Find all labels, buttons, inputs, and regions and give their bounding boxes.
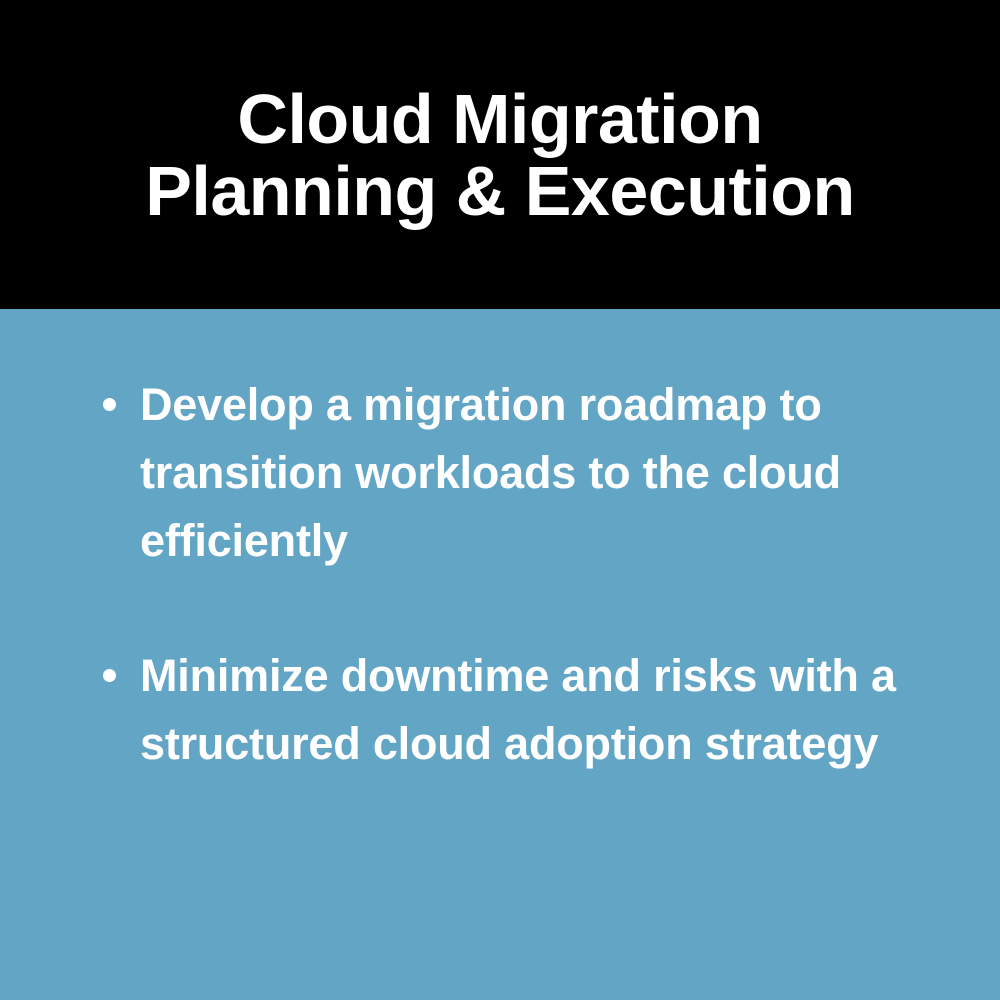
bullet-dot-icon (103, 398, 116, 411)
list-item: Minimize downtime and risks with a struc… (95, 642, 910, 778)
bullet-item-text: Develop a migration roadmap to transitio… (140, 371, 910, 575)
slide-body-panel: Develop a migration roadmap to transitio… (0, 309, 1000, 1000)
slide-header-band: Cloud Migration Planning & Execution (0, 0, 1000, 309)
slide-title: Cloud Migration Planning & Execution (105, 83, 895, 227)
bullet-dot-icon (103, 669, 116, 682)
presentation-slide: Cloud Migration Planning & Execution Dev… (0, 0, 1000, 1000)
bullet-list: Develop a migration roadmap to transitio… (95, 371, 910, 778)
slide-title-line-1: Cloud Migration (145, 83, 855, 155)
slide-title-line-2: Planning & Execution (145, 155, 855, 227)
bullet-item-text: Minimize downtime and risks with a struc… (140, 642, 910, 778)
list-item: Develop a migration roadmap to transitio… (95, 371, 910, 575)
